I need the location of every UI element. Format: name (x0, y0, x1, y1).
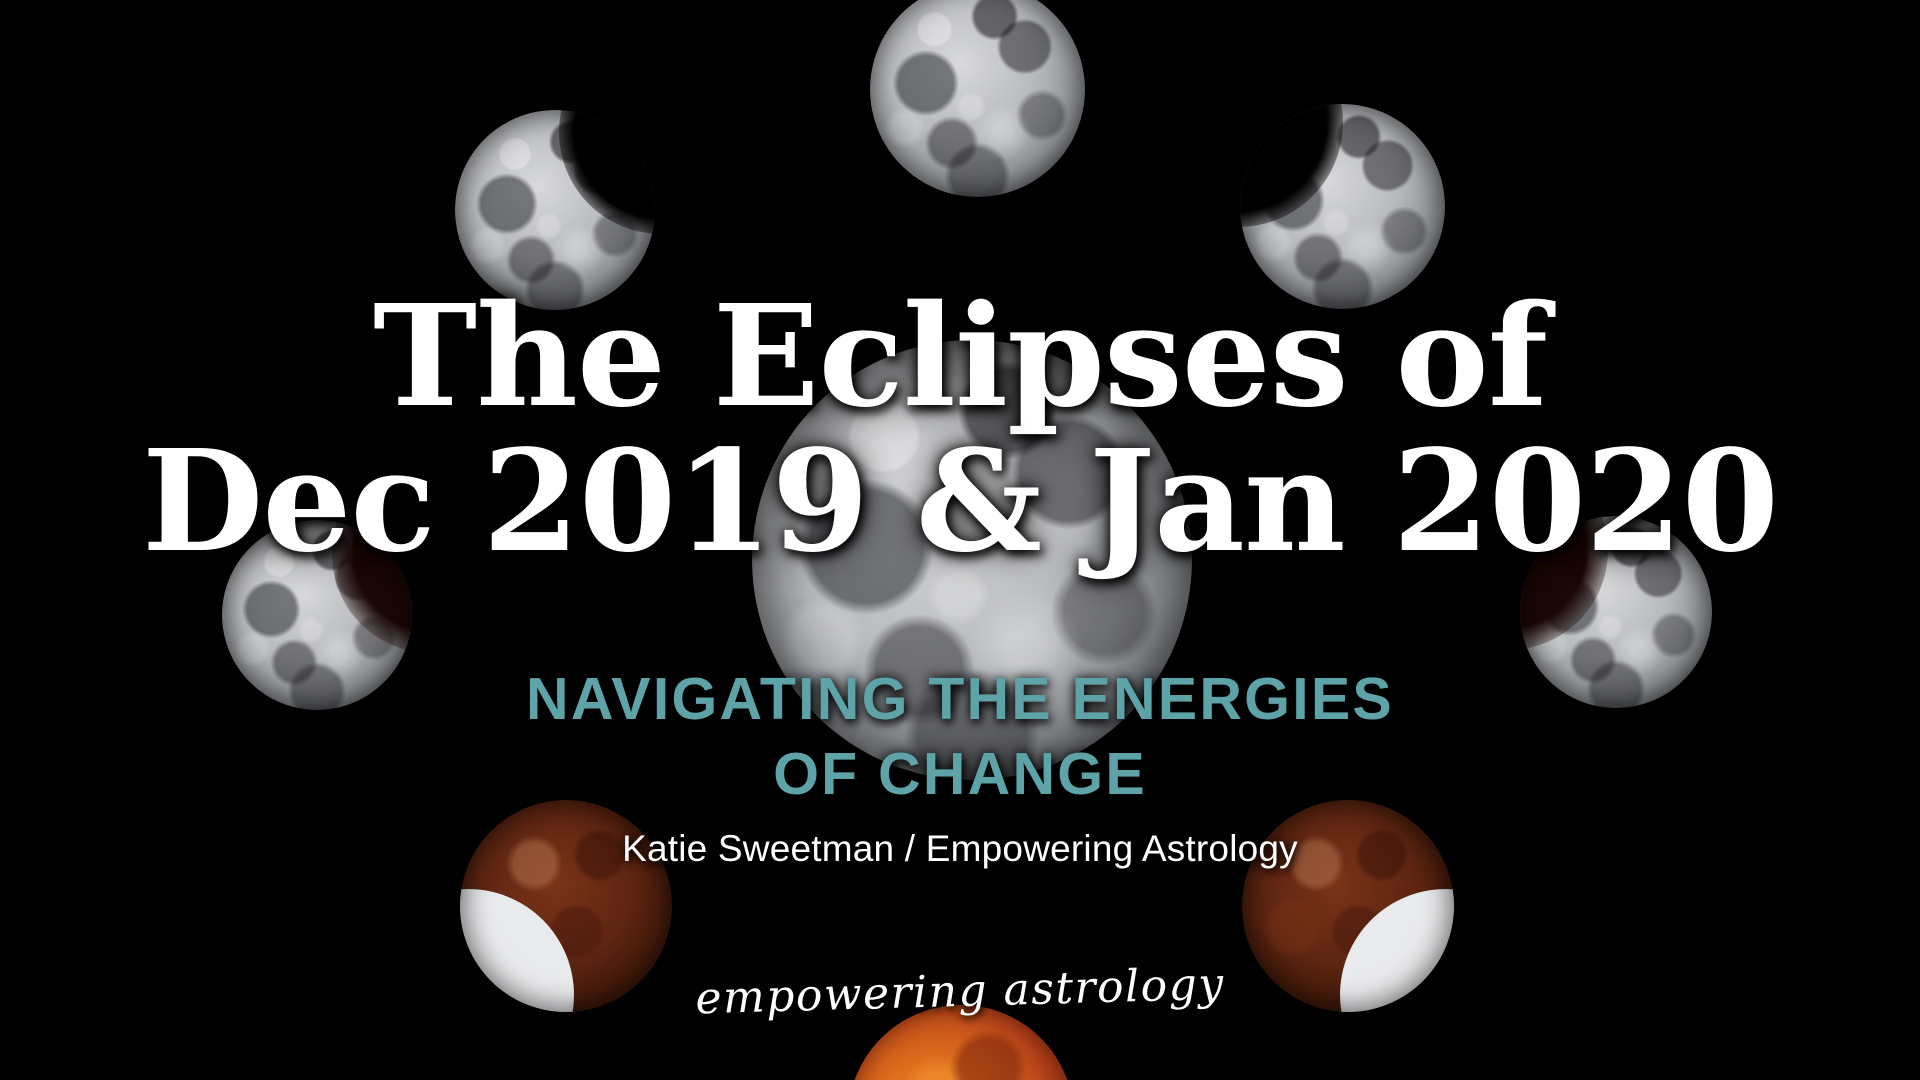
subtitle-line-2: OF CHANGE (0, 737, 1920, 813)
subtitle-line-1: NAVIGATING THE ENERGIES (0, 662, 1920, 738)
title-line-1: The Eclipses of (0, 282, 1920, 433)
presentation-slide: The Eclipses of Dec 2019 & Jan 2020 NAVI… (0, 0, 1920, 1080)
author-byline: Katie Sweetman / Empowering Astrology (0, 828, 1920, 870)
page-title: The Eclipses of Dec 2019 & Jan 2020 (0, 282, 1920, 578)
slide-text-content: The Eclipses of Dec 2019 & Jan 2020 NAVI… (0, 0, 1920, 1080)
title-line-2: Dec 2019 & Jan 2020 (0, 427, 1920, 578)
subtitle: NAVIGATING THE ENERGIES OF CHANGE (0, 662, 1920, 813)
brand-wordmark: empowering astrology (0, 939, 1920, 1044)
